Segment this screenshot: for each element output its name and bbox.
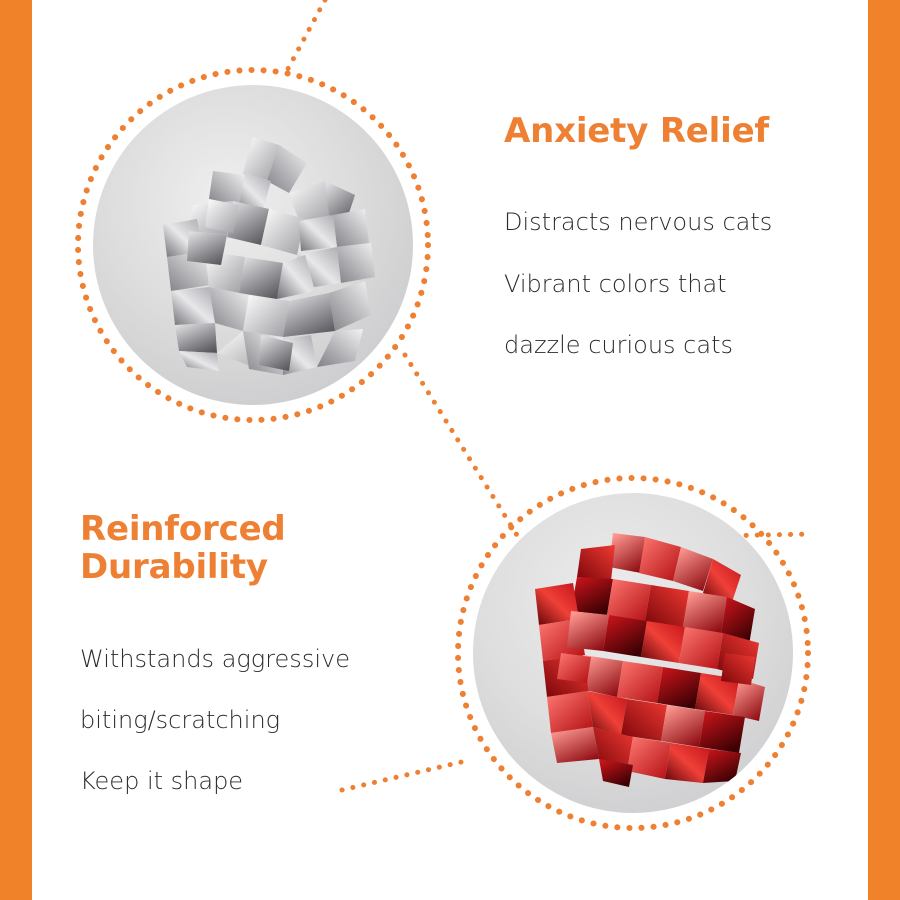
feature-body-reinforced-durability: Withstands aggressive biting/scratching … <box>80 613 440 828</box>
feature-image-anxiety-relief <box>74 66 432 424</box>
feature-body-line: Distracts nervous cats <box>504 207 834 238</box>
feature-image-reinforced-durability <box>454 474 812 832</box>
right-orange-band <box>868 0 900 900</box>
feature-body-line: Withstands aggressive <box>80 644 440 675</box>
feature-text-anxiety-relief: Anxiety Relief Distracts nervous cats Vi… <box>504 112 834 391</box>
feature-body-anxiety-relief: Distracts nervous cats Vibrant colors th… <box>504 176 834 391</box>
silver-foil-illustration <box>93 85 413 405</box>
feature-body-line: biting/scratching <box>80 705 440 736</box>
red-foil-ball-photo <box>473 493 793 813</box>
red-foil-illustration <box>473 493 793 813</box>
feature-body-line: Vibrant colors that <box>504 269 834 300</box>
feature-title-reinforced-durability: Reinforced Durability <box>80 510 440 587</box>
feature-body-line: dazzle curious cats <box>504 330 834 361</box>
infographic-page: Anxiety Relief Distracts nervous cats Vi… <box>0 0 900 900</box>
feature-title-anxiety-relief: Anxiety Relief <box>504 112 834 150</box>
left-orange-band <box>0 0 32 900</box>
connector-top <box>283 0 325 78</box>
feature-body-line: Keep it shape <box>80 766 440 797</box>
feature-text-reinforced-durability: Reinforced Durability Withstands aggress… <box>80 510 440 828</box>
silver-foil-ball-photo <box>93 85 413 405</box>
